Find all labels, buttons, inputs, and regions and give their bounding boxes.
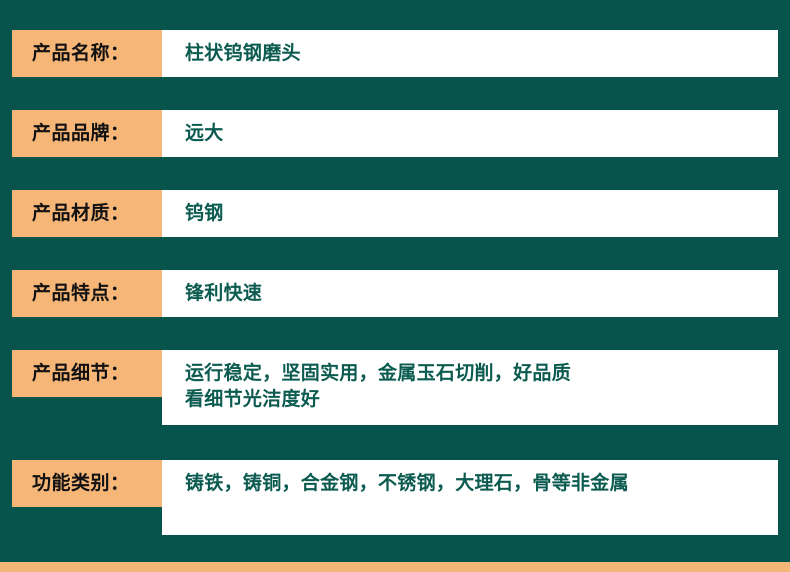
product-spec-sheet: 产品名称： 柱状钨钢磨头 产品品牌： 远大 产品材质： 钨钢 产品特点： 锋利快…: [0, 0, 790, 572]
bottom-accent-strip: [0, 562, 790, 572]
spec-value-product-detail: 运行稳定，坚固实用，金属玉石切削，好品质 看细节光洁度好: [185, 361, 571, 413]
spec-value-product-feature: 锋利快速: [185, 281, 262, 307]
label-chip-product-material: 产品材质：: [12, 190, 162, 237]
spec-label-function-category: 功能类别：: [32, 474, 130, 493]
value-panel-product-material: [162, 190, 778, 237]
label-chip-product-brand: 产品品牌：: [12, 110, 162, 157]
value-panel-product-brand: [162, 110, 778, 157]
label-chip-product-detail: 产品细节：: [12, 350, 162, 397]
spec-label-product-brand: 产品品牌：: [32, 124, 130, 143]
label-chip-product-name: 产品名称：: [12, 30, 162, 77]
spec-value-product-material: 钨钢: [185, 201, 224, 227]
label-chip-product-feature: 产品特点：: [12, 270, 162, 317]
spec-label-product-detail: 产品细节：: [32, 364, 130, 383]
spec-value-product-brand: 远大: [185, 121, 224, 147]
spec-value-function-category: 铸铁，铸铜，合金钢，不锈钢，大理石，骨等非金属: [185, 471, 629, 497]
spec-label-product-feature: 产品特点：: [32, 284, 130, 303]
spec-value-product-name: 柱状钨钢磨头: [185, 41, 301, 67]
spec-label-product-material: 产品材质：: [32, 204, 130, 223]
spec-label-product-name: 产品名称：: [32, 44, 130, 63]
label-chip-function-category: 功能类别：: [12, 460, 162, 507]
